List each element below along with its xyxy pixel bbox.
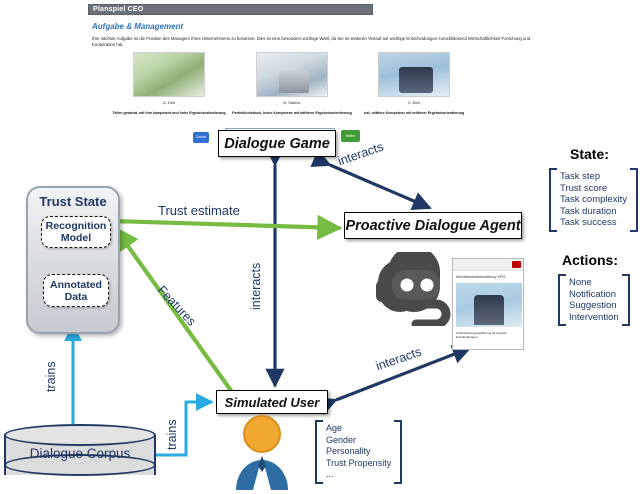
- action-item: Notification: [569, 289, 619, 301]
- agent-interface-thumbnail: Arbeitsbewerbeeinstellung: KPIS Unterstü…: [452, 258, 524, 350]
- user-profile-panel: Age Gender Personality Trust Propensity …: [315, 420, 402, 484]
- node-proactive-dialogue-agent[interactable]: Proactive Dialogue Agent: [344, 212, 522, 239]
- user-profile-item: ...: [326, 469, 391, 481]
- edge-game-agent: [330, 165, 430, 208]
- chatbot-robot-icon: [372, 252, 458, 326]
- actions-items: None Notification Suggestion Interventio…: [566, 274, 622, 326]
- state-item: Task step: [560, 171, 627, 183]
- user-profile-item: Gender: [326, 435, 391, 447]
- node-recognition-model[interactable]: Recognition Model: [41, 216, 111, 248]
- node-annotated-data[interactable]: Annotated Data: [43, 274, 109, 307]
- state-items: Task step Trust score Task complexity Ta…: [557, 168, 630, 232]
- bracket-right: [394, 420, 402, 484]
- bracket-left: [315, 420, 323, 484]
- trust-state-title: Trust State: [28, 194, 118, 209]
- bracket-left: [558, 274, 566, 326]
- node-dialogue-game-label: Dialogue Game: [224, 136, 330, 152]
- state-item: Task success: [560, 217, 627, 229]
- dialogue-corpus-label: Dialogue Corpus: [4, 446, 156, 461]
- state-panel: Task step Trust score Task complexity Ta…: [549, 168, 638, 232]
- cylinder-top: [4, 424, 156, 446]
- actions-panel-title: Actions:: [562, 252, 618, 268]
- annotated-data-label: Annotated Data: [44, 279, 108, 303]
- user-profile-items: Age Gender Personality Trust Propensity …: [323, 420, 394, 484]
- state-item: Task complexity: [560, 194, 627, 206]
- node-dialogue-corpus[interactable]: Dialogue Corpus: [4, 424, 156, 486]
- edge-label-trains-corpus-data: trains: [44, 361, 58, 392]
- edge-label-trust-estimate: Trust estimate: [158, 203, 240, 218]
- node-dialogue-game[interactable]: Dialogue Game: [218, 130, 336, 157]
- thumbnail-image: [456, 283, 522, 327]
- state-item: Task duration: [560, 206, 627, 218]
- bracket-right: [630, 168, 638, 232]
- bracket-left: [549, 168, 557, 232]
- user-profile-item: Age: [326, 423, 391, 435]
- node-proactive-dialogue-agent-label: Proactive Dialogue Agent: [345, 218, 520, 234]
- action-item: None: [569, 277, 619, 289]
- panel-trust-state: Trust State Recognition Model Annotated …: [26, 186, 120, 334]
- notification-badge: [512, 261, 521, 268]
- recognition-model-label: Recognition Model: [42, 220, 110, 244]
- state-panel-title: State:: [570, 146, 609, 162]
- thumbnail-caption: Unterstützungsausführung für bessere Ent…: [456, 331, 522, 339]
- diagram-canvas: Planspiel CEO Aufgabe & Management Ihre …: [0, 0, 640, 494]
- user-avatar-icon: [234, 414, 290, 490]
- state-item: Trust score: [560, 183, 627, 195]
- edge-label-trains-corpus-user: trains: [165, 419, 179, 450]
- node-simulated-user-label: Simulated User: [225, 395, 320, 410]
- action-item: Suggestion: [569, 300, 619, 312]
- user-profile-item: Trust Propensity: [326, 458, 391, 470]
- node-simulated-user[interactable]: Simulated User: [216, 390, 328, 414]
- actions-panel: None Notification Suggestion Interventio…: [558, 274, 630, 326]
- action-item: Intervention: [569, 312, 619, 324]
- bracket-right: [622, 274, 630, 326]
- user-profile-item: Personality: [326, 446, 391, 458]
- edge-trust-estimate: [112, 221, 340, 228]
- edge-label-interacts-game-user: interacts: [249, 263, 263, 310]
- thumbnail-title: Arbeitsbewerbeeinstellung: KPIS: [456, 275, 505, 279]
